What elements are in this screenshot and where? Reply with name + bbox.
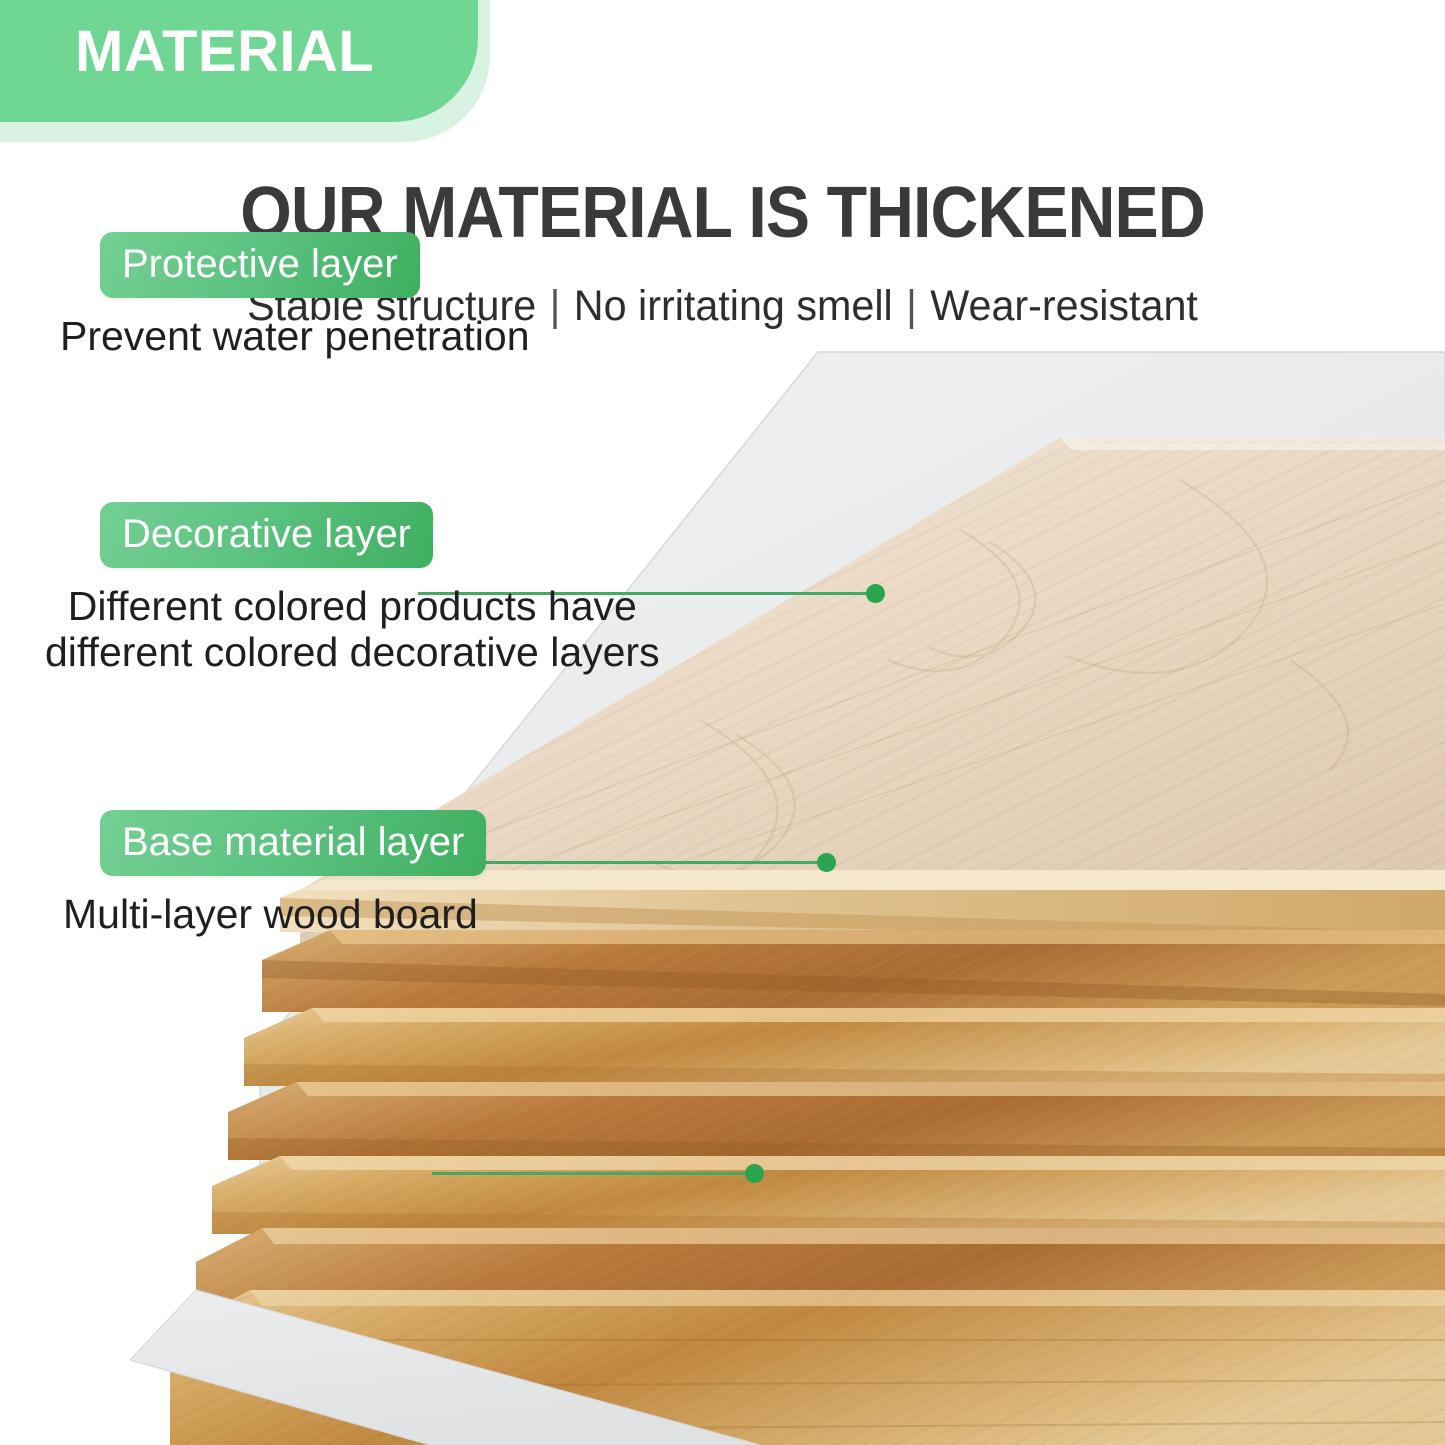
callout-protective-layer: Protective layer Prevent water penetrati… <box>100 232 530 360</box>
badge-protective-layer[interactable]: Protective layer <box>100 232 420 298</box>
subtitle-separator-1: | <box>536 282 574 330</box>
desc-protective-layer: Prevent water penetration <box>60 314 530 360</box>
desc-decorative-line-1: Different colored products have <box>68 583 637 629</box>
subtitle-separator-2: | <box>893 282 931 330</box>
banner-label: MATERIAL <box>75 18 374 85</box>
badge-base-material-layer[interactable]: Base material layer <box>100 810 486 876</box>
desc-decorative-layer: Different colored products have differen… <box>45 584 660 676</box>
callout-base-material-layer: Base material layer Multi-layer wood boa… <box>100 810 486 938</box>
desc-base-material-line-1: Multi-layer wood board <box>63 891 478 937</box>
desc-decorative-line-2: different colored decorative layers <box>45 630 660 676</box>
feature-wear-resistant: Wear-resistant <box>930 282 1198 330</box>
desc-protective-line-1: Prevent water penetration <box>60 313 530 359</box>
ply-2 <box>262 930 1445 1012</box>
ply-5 <box>212 1156 1445 1234</box>
feature-no-smell: No irritating smell <box>574 282 893 330</box>
badge-decorative-layer[interactable]: Decorative layer <box>100 502 433 568</box>
ply-3 <box>244 1008 1445 1086</box>
desc-base-material-layer: Multi-layer wood board <box>63 892 486 938</box>
ply-4 <box>228 1082 1445 1160</box>
callout-decorative-layer: Decorative layer Different colored produ… <box>100 502 660 676</box>
